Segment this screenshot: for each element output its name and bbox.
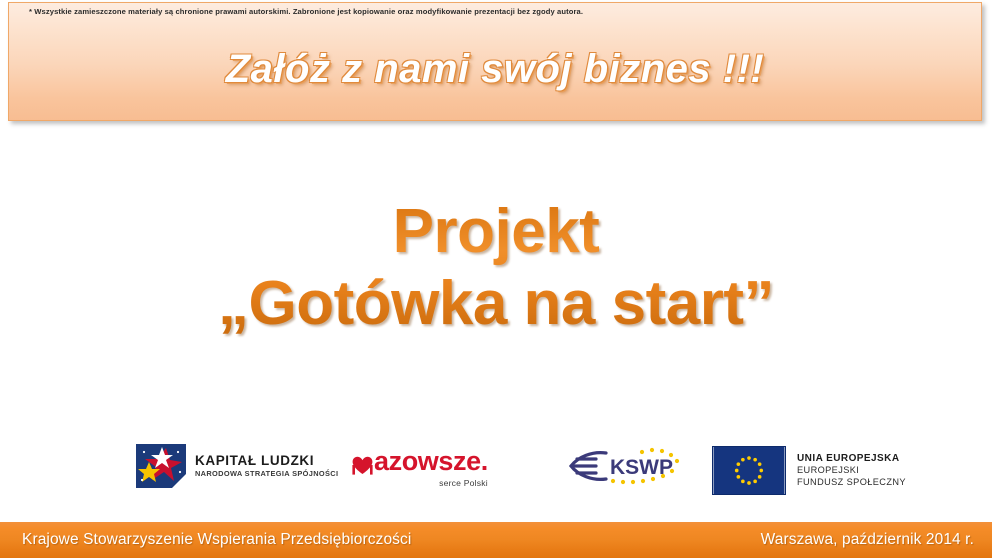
header-banner: * Wszystkie zamieszczone materiały są ch…: [8, 2, 982, 121]
logo-kapital-ludzki: KAPITAŁ LUDZKI NARODOWA STRATEGIA SPÓJNO…: [136, 444, 338, 488]
logo-row: KAPITAŁ LUDZKI NARODOWA STRATEGIA SPÓJNO…: [0, 440, 992, 502]
mazowsze-wordmark: azowsze.: [352, 448, 488, 475]
kswp-icon: KSWP: [566, 446, 684, 486]
footer-place-date: Warszawa, październik 2014 r.: [761, 531, 974, 549]
footer-organization: Krajowe Stowarzyszenie Wspierania Przeds…: [22, 531, 411, 549]
kapital-ludzki-text: KAPITAŁ LUDZKI NARODOWA STRATEGIA SPÓJNO…: [195, 454, 338, 479]
footer-bar: Krajowe Stowarzyszenie Wspierania Przeds…: [0, 522, 992, 558]
kapital-ludzki-name: KAPITAŁ LUDZKI: [195, 454, 338, 468]
page-title: Projekt „Gotówka na start”: [0, 196, 992, 340]
mazowsze-subtitle: serce Polski: [352, 478, 488, 488]
title-line-2: „Gotówka na start”: [0, 268, 992, 340]
logo-mazowsze: azowsze. serce Polski: [352, 448, 488, 488]
logo-unia-europejska: UNIA EUROPEJSKA EUROPEJSKI FUNDUSZ SPOŁE…: [712, 446, 906, 495]
eu-line-1: UNIA EUROPEJSKA: [797, 453, 906, 465]
kapital-ludzki-icon: [136, 444, 186, 488]
banner-headline: Załóż z nami swój biznes !!!: [9, 47, 981, 92]
eu-line-2: EUROPEJSKI: [797, 465, 906, 476]
eu-text-block: UNIA EUROPEJSKA EUROPEJSKI FUNDUSZ SPOŁE…: [797, 453, 906, 488]
logo-kswp: KSWP: [566, 446, 684, 486]
eu-line-3: FUNDUSZ SPOŁECZNY: [797, 477, 906, 488]
heart-icon: [352, 456, 373, 475]
title-line-1: Projekt: [0, 196, 992, 268]
kapital-ludzki-subtitle: NARODOWA STRATEGIA SPÓJNOŚCI: [195, 469, 338, 478]
copyright-disclaimer: * Wszystkie zamieszczone materiały są ch…: [29, 7, 583, 16]
eu-flag-icon: [712, 446, 786, 495]
mazowsze-name: azowsze.: [374, 448, 488, 475]
